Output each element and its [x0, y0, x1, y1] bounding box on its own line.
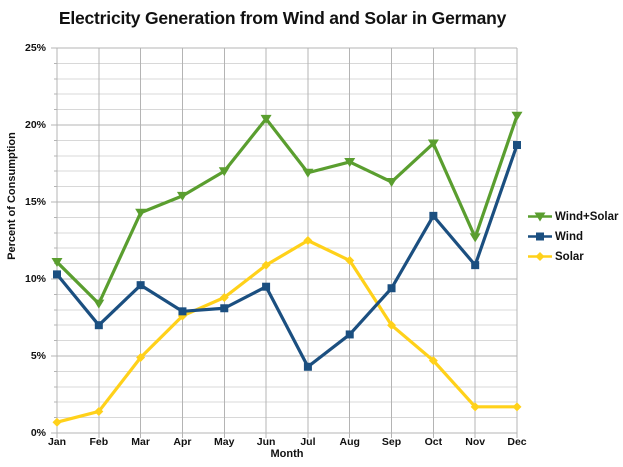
x-tick-label-oct: Oct — [410, 436, 456, 448]
legend-item-solar[interactable]: Solar — [527, 248, 618, 265]
y-tick-label: 25% — [6, 42, 46, 54]
legend-label: Wind+Solar — [555, 211, 618, 223]
y-tick-label: 15% — [6, 196, 46, 208]
legend-item-wind-solar[interactable]: Wind+Solar — [527, 208, 618, 225]
x-tick-label-jul: Jul — [285, 436, 331, 448]
legend-item-wind[interactable]: Wind — [527, 228, 618, 245]
x-tick-label-sep: Sep — [369, 436, 415, 448]
x-tick-label-jan: Jan — [34, 436, 80, 448]
x-tick-label-may: May — [201, 436, 247, 448]
x-tick-label-mar: Mar — [118, 436, 164, 448]
y-tick-label: 10% — [6, 273, 46, 285]
legend-marker-icon — [527, 210, 553, 223]
legend-marker-icon — [527, 250, 553, 263]
chart-legend: Wind+SolarWindSolar — [527, 208, 618, 265]
y-tick-label: 5% — [6, 350, 46, 362]
y-tick-label: 20% — [6, 119, 46, 131]
x-tick-label-dec: Dec — [494, 436, 540, 448]
x-tick-label-nov: Nov — [452, 436, 498, 448]
x-tick-label-apr: Apr — [159, 436, 205, 448]
chart-container: Electricity Generation from Wind and Sol… — [0, 0, 623, 467]
x-tick-label-jun: Jun — [243, 436, 289, 448]
legend-marker-icon — [527, 230, 553, 243]
legend-label: Solar — [555, 251, 584, 263]
x-tick-label-feb: Feb — [76, 436, 122, 448]
x-tick-label-aug: Aug — [327, 436, 373, 448]
legend-label: Wind — [555, 231, 583, 243]
